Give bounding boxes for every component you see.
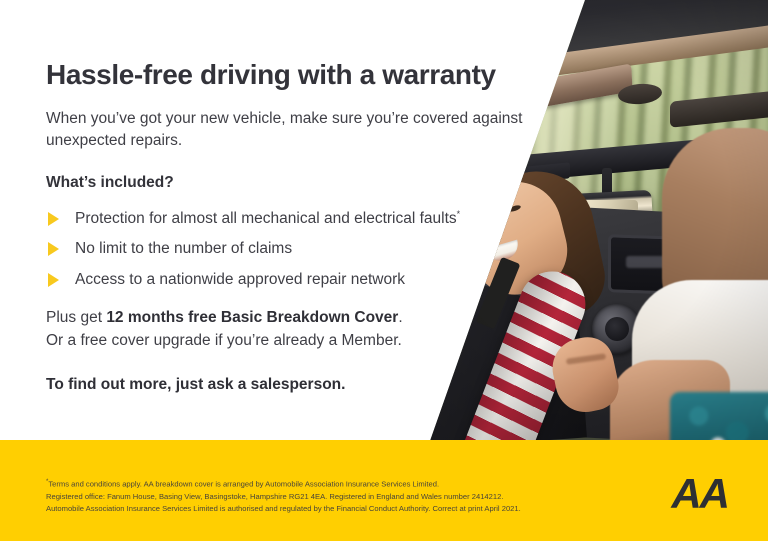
benefit-label: No limit to the number of claims — [75, 239, 292, 258]
offer-line1-suffix: . — [398, 309, 402, 326]
offer-line1-prefix: Plus get — [46, 309, 106, 326]
offer-line2: Or a free cover upgrade if you’re alread… — [46, 332, 402, 349]
call-to-action: To find out more, just ask a salesperson… — [46, 376, 546, 394]
legal-line-2: Registered office: Fanum House, Basing V… — [46, 491, 636, 503]
aa-warranty-advert: Hassle-free driving with a warranty When… — [0, 0, 768, 541]
benefit-label: Protection for almost all mechanical and… — [75, 209, 460, 229]
intro-paragraph: When you’ve got your new vehicle, make s… — [46, 108, 528, 152]
legal-text: *Terms and conditions apply. AA breakdow… — [46, 478, 636, 515]
section-subheading: What’s included? — [46, 174, 546, 192]
list-item: No limit to the number of claims — [46, 239, 546, 258]
offer-line1-highlight: 12 months free Basic Breakdown Cover — [106, 309, 398, 326]
page-title: Hassle-free driving with a warranty — [46, 0, 546, 91]
floral-fabric — [670, 392, 768, 441]
triangle-bullet-icon — [48, 212, 59, 226]
aa-logo: AA — [671, 470, 728, 518]
benefits-list: Protection for almost all mechanical and… — [46, 209, 546, 289]
footer-bar: *Terms and conditions apply. AA breakdow… — [0, 440, 768, 541]
footnote-marker: * — [457, 209, 461, 219]
list-item: Access to a nationwide approved repair n… — [46, 270, 546, 289]
triangle-bullet-icon — [48, 242, 59, 256]
list-item: Protection for almost all mechanical and… — [46, 209, 546, 229]
copy-column: Hassle-free driving with a warranty When… — [46, 0, 546, 394]
offer-paragraph: Plus get 12 months free Basic Breakdown … — [46, 307, 546, 352]
triangle-bullet-icon — [48, 273, 59, 287]
benefit-label: Access to a nationwide approved repair n… — [75, 270, 405, 289]
legal-line-1: *Terms and conditions apply. AA breakdow… — [46, 478, 636, 491]
legal-line-3: Automobile Association Insurance Service… — [46, 503, 636, 515]
